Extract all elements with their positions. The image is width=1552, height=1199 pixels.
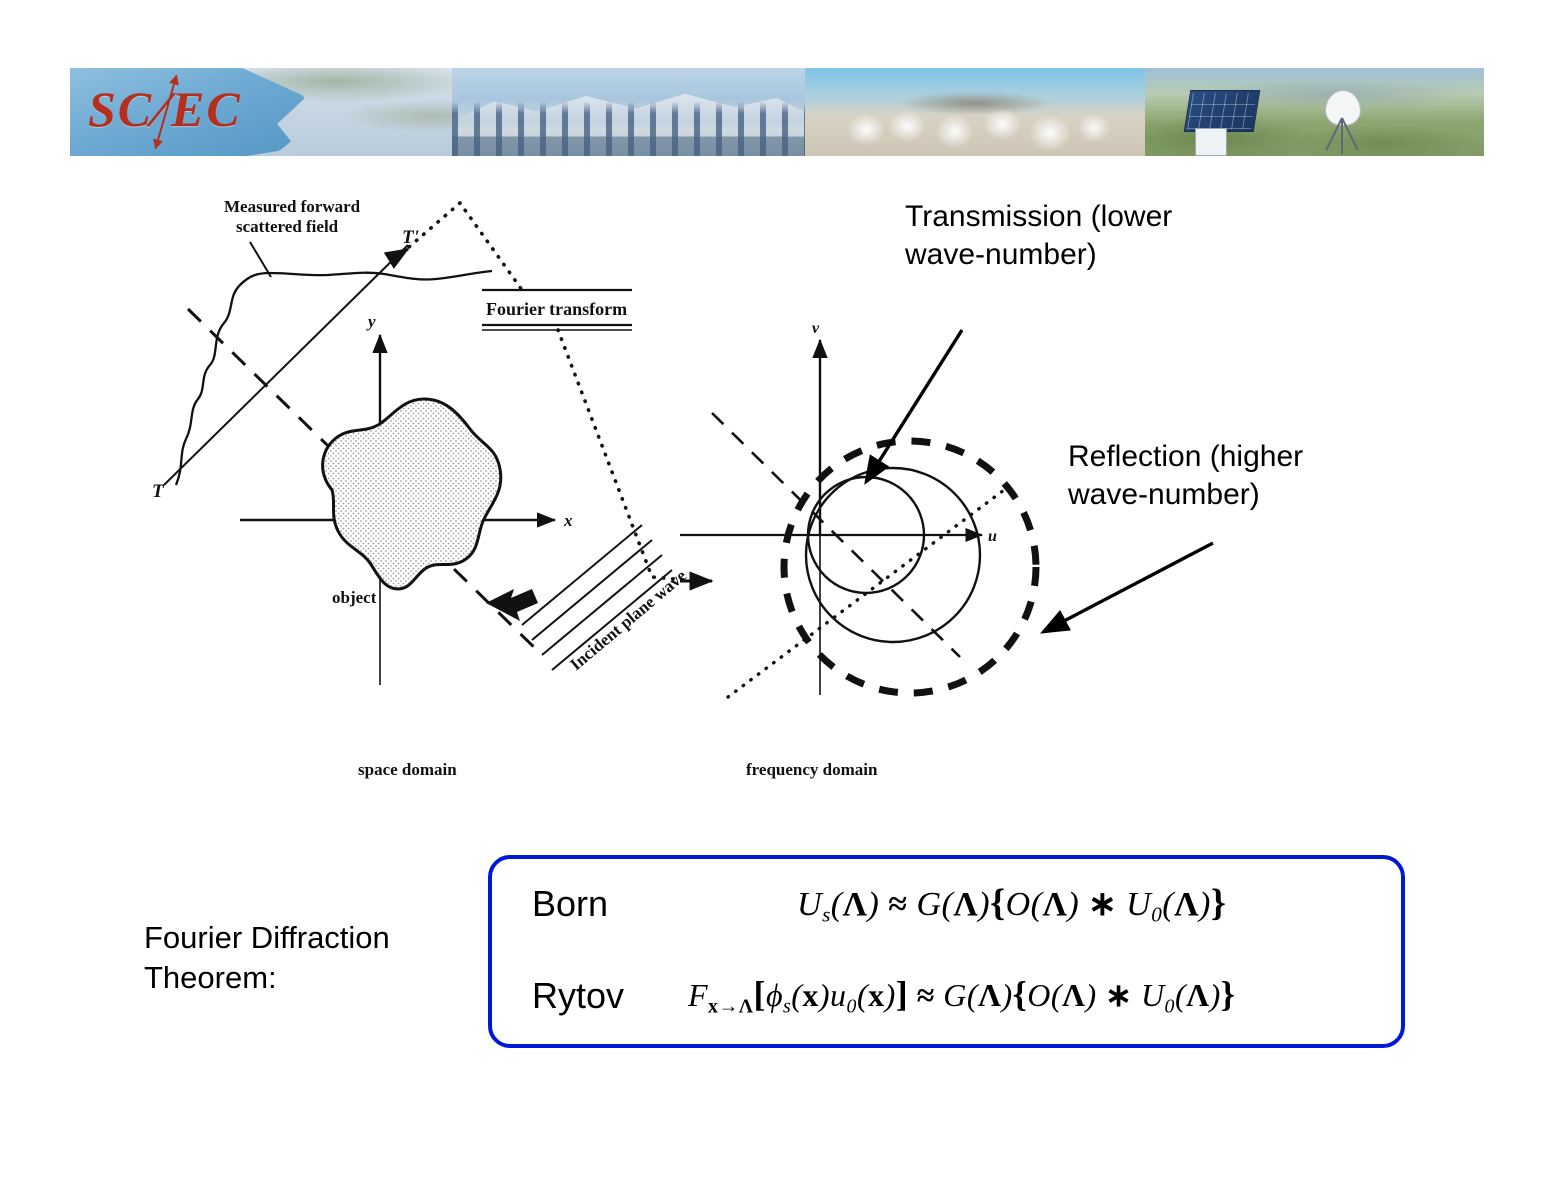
callout-transmission-label: Transmission (lower wave-number) [905,198,1305,275]
measured-field-leader [250,242,271,277]
frequency-domain-caption: frequency domain [746,760,878,779]
space-domain-group: Measured forward scattered field T' T y … [152,197,690,779]
scec-banner: SC/EC [70,68,1484,156]
measured-field-label-line2: scattered field [236,217,339,236]
solar-panel-icon [1184,90,1261,132]
slide-canvas: SC/EC [0,0,1552,1199]
formula-equation-rytov: Fx→Λ[ϕs(x)u0(x)] ≈ G(Λ){O(Λ) ∗ U0(Λ)} [688,973,1235,1018]
arrow-reflection [1043,543,1213,632]
diffraction-figure: Measured forward scattered field T' T y … [140,185,1040,805]
formula-equation-born: Us(Λ) ≈ G(Λ){O(Λ) ∗ U0(Λ)} [797,881,1226,928]
theorem-formula-box: Born Us(Λ) ≈ G(Λ){O(Λ) ∗ U0(Λ)} Rytov Fx… [488,855,1405,1048]
space-domain-caption: space domain [358,760,457,779]
fourier-diffraction-theorem-label: Fourier Diffraction Theorem: [144,918,474,999]
banner-photo-panel-3 [805,68,1144,156]
banner-photo-panel-2 [452,68,806,156]
fourier-transform-label: Fourier transform [486,299,627,319]
formula-name-born: Born [532,883,682,925]
measured-field-label-line1: Measured forward [224,197,361,216]
fourier-transform-box: Fourier transform [482,290,632,330]
formula-name-rytov: Rytov [532,975,680,1017]
frequency-domain-group: v u [680,320,1036,697]
instrument-box-icon [1195,128,1227,156]
arc-mid-circle [806,468,980,642]
t-prime-label: T' [402,227,419,248]
object-caption: object [332,588,377,607]
axis-y-label: y [366,312,376,331]
logo-sc: SC [88,81,153,137]
axis-v-label: v [812,320,820,337]
axis-x-label: x [563,511,573,530]
axis-u-label: u [988,528,997,545]
object-blob [323,399,501,589]
formula-row-born: Born Us(Λ) ≈ G(Λ){O(Λ) ∗ U0(Λ)} [532,881,1226,928]
incident-arrow-head [486,589,538,621]
tripod-icon [1313,118,1371,154]
arc-large-dashed-circle [784,441,1036,693]
connector-arrowhead-left [390,249,408,260]
t-label: T [152,481,165,502]
logo-ec: EC [171,81,242,137]
formula-row-rytov: Rytov Fx→Λ[ϕs(x)u0(x)] ≈ G(Λ){O(Λ) ∗ U0(… [532,973,1235,1018]
callout-reflection-label: Reflection (higher wave-number) [1068,438,1428,515]
